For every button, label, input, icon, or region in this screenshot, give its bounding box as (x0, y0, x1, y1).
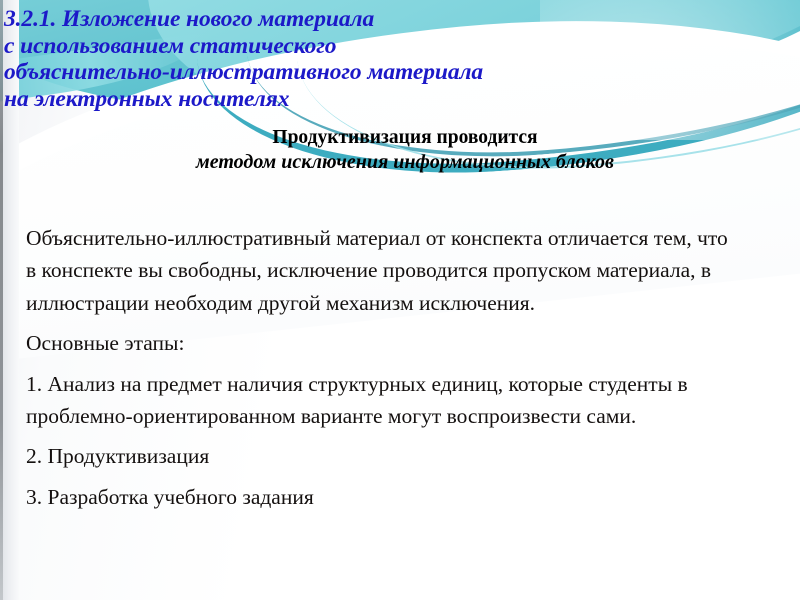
slide-canvas: 3.2.1. Изложение нового материала с испо… (0, 0, 800, 600)
slide-content: 3.2.1. Изложение нового материала с испо… (0, 0, 800, 600)
body-stages-label: Основные этапы: (26, 327, 742, 359)
body-stage-3: 3. Разработка учебного задания (26, 481, 742, 513)
subtitle-line-1: Продуктивизация проводится (40, 126, 770, 150)
body-paragraph-intro: Объяснительно-иллюстративный материал от… (26, 222, 742, 319)
slide-title: 3.2.1. Изложение нового материала с испо… (4, 6, 796, 112)
slide-body: Объяснительно-иллюстративный материал от… (26, 222, 742, 513)
body-stage-1: 1. Анализ на предмет наличия структурных… (26, 368, 742, 433)
subtitle-line-2: методом исключения информационных блоков (40, 150, 770, 174)
slide-subtitle: Продуктивизация проводится методом исклю… (40, 126, 770, 174)
body-stage-2: 2. Продуктивизация (26, 440, 742, 472)
